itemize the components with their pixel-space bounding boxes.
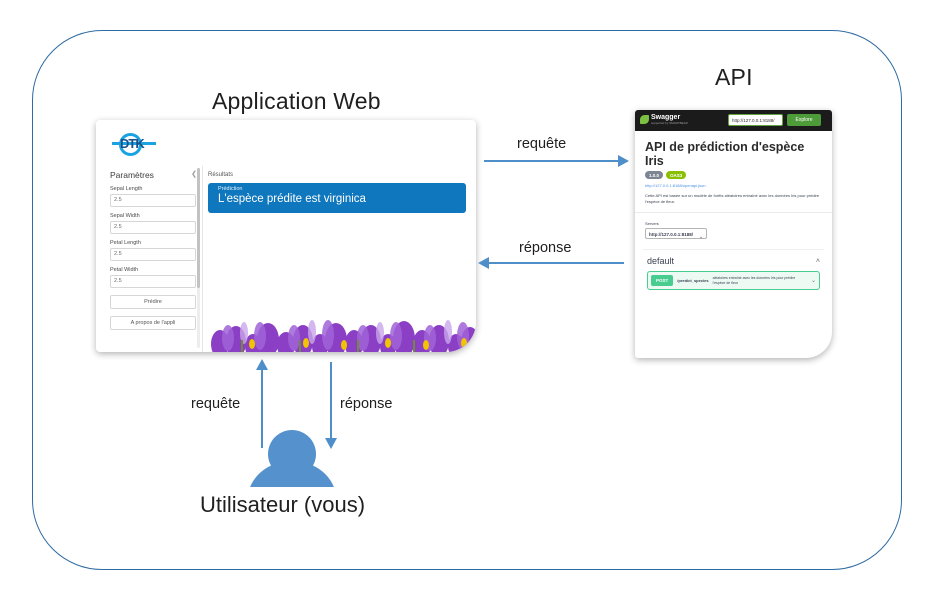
about-app-button[interactable]: A propos de l'appli <box>110 316 196 330</box>
page-title-api: API <box>715 64 753 91</box>
api-description: Cette API est basée sur un modèle de for… <box>645 193 822 205</box>
field-petal-length: Petal Length 2.5 <box>104 240 202 261</box>
api-card: Swagger supported by SMARTBEAR http://12… <box>635 110 832 358</box>
arrow-label-reponse-user: réponse <box>340 396 392 412</box>
swagger-url-input[interactable]: http://127.0.0.1:8188/ <box>728 114 783 126</box>
server-select-value: http://127.0.0.1:8188/ <box>649 232 693 237</box>
chevron-down-icon[interactable]: ⌄ <box>811 277 816 284</box>
webapp-sidebar: Paramètres ❮ Sepal Length 2.5 Sepal Widt… <box>104 166 203 352</box>
openapi-spec-link[interactable]: http://127.0.0.1:8188/openapi.json <box>645 183 822 188</box>
field-label: Petal Width <box>110 267 196 273</box>
swagger-leaf-icon <box>640 115 649 124</box>
webapp-logo: DTK <box>112 132 156 158</box>
arrowhead-left <box>478 257 489 269</box>
arrowhead-right <box>618 155 629 167</box>
user-label: Utilisateur (vous) <box>200 492 365 518</box>
petal-width-input[interactable]: 2.5 <box>110 275 196 288</box>
swagger-topbar: Swagger supported by SMARTBEAR http://12… <box>635 110 832 131</box>
sidebar-scrollbar[interactable] <box>197 168 200 348</box>
page-title-webapp: Application Web <box>212 88 381 115</box>
field-label: Sepal Width <box>110 213 196 219</box>
sepal-length-input[interactable]: 2.5 <box>110 194 196 207</box>
webapp-main: Résultats Prédiction L'espèce prédite es… <box>208 166 476 352</box>
chevron-up-icon[interactable]: ˄ <box>816 258 820 265</box>
oas-badge: OAS3 <box>666 171 686 179</box>
arrowhead-down <box>325 438 337 449</box>
http-verb-badge: POST <box>651 275 673 286</box>
arrow-label-requete-user: requête <box>191 396 240 412</box>
arrow-line-webapp-to-user <box>330 362 332 440</box>
chevron-down-icon: ⌄ <box>699 231 703 242</box>
field-label: Sepal Length <box>110 186 196 192</box>
tag-header[interactable]: default ˄ <box>643 256 824 266</box>
arrow-line-api-to-webapp <box>489 262 624 264</box>
arrow-line-webapp-to-api <box>484 160 619 162</box>
field-petal-width: Petal Width 2.5 <box>104 267 202 288</box>
tag-section: default ˄ POST /predict_species aléatoir… <box>643 249 824 290</box>
arrowhead-up <box>256 359 268 370</box>
petal-length-input[interactable]: 2.5 <box>110 248 196 261</box>
arrow-label-reponse-api: réponse <box>519 240 571 256</box>
prediction-banner: Prédiction L'espèce prédite est virginic… <box>208 183 466 213</box>
arrow-line-user-to-webapp <box>261 370 263 448</box>
operation-summary: aléatoires entraîné avec les données Iri… <box>713 276 807 285</box>
results-title: Résultats <box>208 172 476 178</box>
servers-label: Servers <box>645 221 832 226</box>
tag-name: default <box>647 256 674 266</box>
operation-row-post-predict[interactable]: POST /predict_species aléatoires entraîn… <box>647 271 820 290</box>
swagger-wordmark: Swagger <box>651 114 688 121</box>
version-badge: 1.0.0 <box>645 171 663 179</box>
iris-flowers-image <box>208 300 476 352</box>
arrow-label-requete-api: requête <box>517 136 566 152</box>
swagger-logo: Swagger supported by SMARTBEAR <box>640 114 688 125</box>
predict-button[interactable]: Prédire <box>110 295 196 309</box>
sidebar-title: Paramètres <box>104 166 202 180</box>
field-sepal-length: Sepal Length 2.5 <box>104 186 202 207</box>
prediction-label: Prédiction <box>218 186 466 192</box>
field-label: Petal Length <box>110 240 196 246</box>
server-select[interactable]: http://127.0.0.1:8188/ ⌄ <box>645 228 707 239</box>
prediction-text: L'espèce prédite est virginica <box>218 193 466 205</box>
api-badges: 1.0.0 OAS3 <box>645 171 822 179</box>
operation-path: /predict_species <box>677 278 708 283</box>
swagger-info: API de prédiction d'espèce Iris 1.0.0 OA… <box>635 131 832 205</box>
webapp-card: DTK Paramètres ❮ Sepal Length 2.5 Sepal … <box>96 120 476 352</box>
api-title: API de prédiction d'espèce Iris <box>645 140 822 168</box>
swagger-subtitle: supported by SMARTBEAR <box>651 121 688 125</box>
divider <box>635 212 832 213</box>
field-sepal-width: Sepal Width 2.5 <box>104 213 202 234</box>
explore-button[interactable]: Explore <box>787 114 821 126</box>
logo-text: DTK <box>120 137 144 151</box>
sepal-width-input[interactable]: 2.5 <box>110 221 196 234</box>
